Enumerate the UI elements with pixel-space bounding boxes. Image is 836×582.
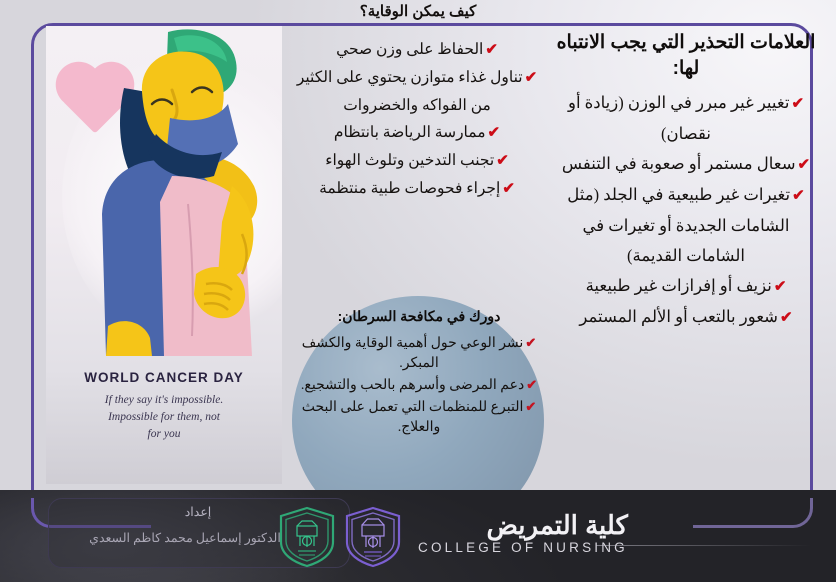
brand-divider <box>596 545 811 546</box>
warning-sign-text: نزيف أو إفرازات غير طبيعية <box>586 276 772 295</box>
brand-name-english: COLLEGE OF NURSING <box>418 540 628 555</box>
brand-name-arabic: كلية التمريض <box>418 510 628 540</box>
check-icon: ✔ <box>488 125 501 141</box>
check-icon: ✔ <box>798 157 811 173</box>
artwork-card: WORLD CANCER DAY If they say it's imposs… <box>46 26 282 484</box>
poster-canvas: كيف يمكن الوقاية؟ <box>0 0 836 582</box>
tagline-line-1: If they say it's impossible. <box>46 392 282 409</box>
prevention-list: ✔الحفاظ على وزن صحي ✔تناول غذاء متوازن ي… <box>286 36 548 203</box>
prevention-item-text: تناول غذاء متوازن يحتوي على الكثير من ال… <box>297 69 523 114</box>
your-role-item: ✔دعم المرضى وأسرهم بالحب والتشجيع. <box>300 375 538 396</box>
your-role-text: التبرع للمنظمات التي تعمل على البحث والع… <box>302 400 524 435</box>
tagline-line-3: for you <box>46 426 282 443</box>
illustration-stage <box>46 26 282 356</box>
check-icon: ✔ <box>774 279 787 295</box>
prevention-item: ✔ممارسة الرياضة بانتظام <box>286 119 548 147</box>
check-icon: ✔ <box>496 153 509 169</box>
warning-sign-item: ✔سعال مستمر أو صعوبة في التنفس <box>552 149 820 180</box>
prevention-item-text: الحفاظ على وزن صحي <box>336 41 483 58</box>
college-brand: كلية التمريض COLLEGE OF NURSING <box>418 510 628 555</box>
check-icon: ✔ <box>792 188 805 204</box>
frame-corner-right <box>693 498 813 528</box>
college-shield-logo-purple-icon <box>344 506 402 568</box>
check-icon: ✔ <box>525 399 536 414</box>
warning-sign-text: تغيير غير مبرر في الوزن (زيادة أو نقصان) <box>568 93 789 143</box>
prevention-item: ✔تناول غذاء متوازن يحتوي على الكثير من ا… <box>286 64 548 119</box>
your-role-text: نشر الوعي حول أهمية الوقاية والكشف المبك… <box>302 336 524 371</box>
prevention-item-text: تجنب التدخين وتلوث الهواء <box>325 152 494 169</box>
warning-sign-text: شعور بالتعب أو الألم المستمر <box>579 307 778 326</box>
your-role-text: دعم المرضى وأسرهم بالحب والتشجيع. <box>301 378 524 393</box>
prevention-item-text: ممارسة الرياضة بانتظام <box>334 124 486 141</box>
check-icon: ✔ <box>526 377 537 392</box>
your-role-item: ✔نشر الوعي حول أهمية الوقاية والكشف المب… <box>300 333 538 374</box>
warning-sign-item: ✔نزيف أو إفرازات غير طبيعية <box>552 271 820 302</box>
warning-sign-item: ✔تغيرات غير طبيعية في الجلد (مثل الشامات… <box>552 180 820 271</box>
warning-sign-item: ✔شعور بالتعب أو الألم المستمر <box>552 302 820 333</box>
warning-signs-title: العلامات التحذير التي يجب الانتباه لها: <box>552 30 820 82</box>
world-cancer-day-title: WORLD CANCER DAY <box>46 370 282 385</box>
world-cancer-day-tagline: If they say it's impossible. Impossible … <box>46 392 282 443</box>
your-role-item: ✔التبرع للمنظمات التي تعمل على البحث وال… <box>300 397 538 438</box>
footer-banner: إعداد الدكتور إسماعيل محمد كاظم السعدي ك… <box>0 490 836 582</box>
check-icon: ✔ <box>485 42 498 58</box>
check-icon: ✔ <box>525 335 536 350</box>
warning-signs-section: العلامات التحذير التي يجب الانتباه لها: … <box>552 30 820 333</box>
prevention-item: ✔تجنب التدخين وتلوث الهواء <box>286 147 548 175</box>
warning-sign-item: ✔تغيير غير مبرر في الوزن (زيادة أو نقصان… <box>552 88 820 149</box>
prevention-item: ✔الحفاظ على وزن صحي <box>286 36 548 64</box>
prevention-item: ✔إجراء فحوصات طبية منتظمة <box>286 175 548 203</box>
your-role-title: دورك في مكافحة السرطان: <box>300 308 538 325</box>
tagline-line-2: Impossible for them, not <box>46 409 282 426</box>
warning-sign-text: سعال مستمر أو صعوبة في التنفس <box>562 154 796 173</box>
prevention-item-text: إجراء فحوصات طبية منتظمة <box>319 180 500 197</box>
university-shield-logo-green-icon <box>278 506 336 568</box>
check-icon: ✔ <box>791 96 804 112</box>
warning-sign-text: تغيرات غير طبيعية في الجلد (مثل الشامات … <box>567 185 790 265</box>
prevention-heading: كيف يمكن الوقاية؟ <box>0 2 836 20</box>
your-role-section: دورك في مكافحة السرطان: ✔نشر الوعي حول أ… <box>300 308 538 439</box>
two-people-embracing-icon <box>46 26 282 356</box>
check-icon: ✔ <box>780 310 793 326</box>
check-icon: ✔ <box>525 70 538 86</box>
check-icon: ✔ <box>502 181 515 197</box>
